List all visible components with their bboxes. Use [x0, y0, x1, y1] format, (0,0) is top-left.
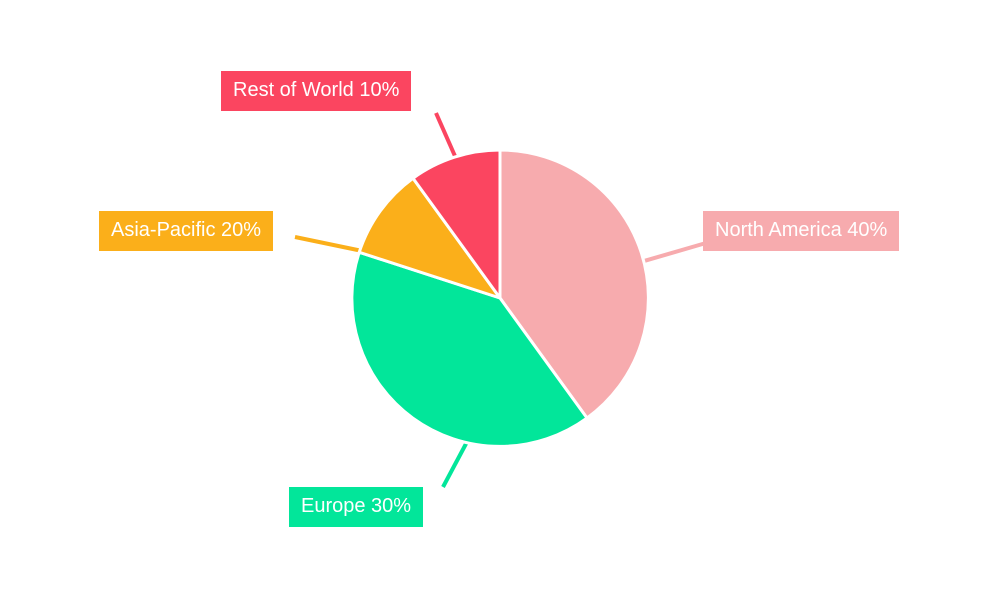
pie-label-europe[interactable]: Europe 30% — [289, 487, 423, 527]
pie-chart-svg — [0, 0, 1000, 600]
leader-line-europe — [443, 440, 468, 487]
pie-label-rest-of-world[interactable]: Rest of World 10% — [221, 71, 411, 111]
pie-label-north-america[interactable]: North America 40% — [703, 211, 899, 251]
pie-label-asia-pacific[interactable]: Asia-Pacific 20% — [99, 211, 273, 251]
pie-wedges — [352, 150, 649, 446]
pie-chart-figure: North America 40% Europe 30% Asia-Pacifi… — [0, 0, 1000, 600]
